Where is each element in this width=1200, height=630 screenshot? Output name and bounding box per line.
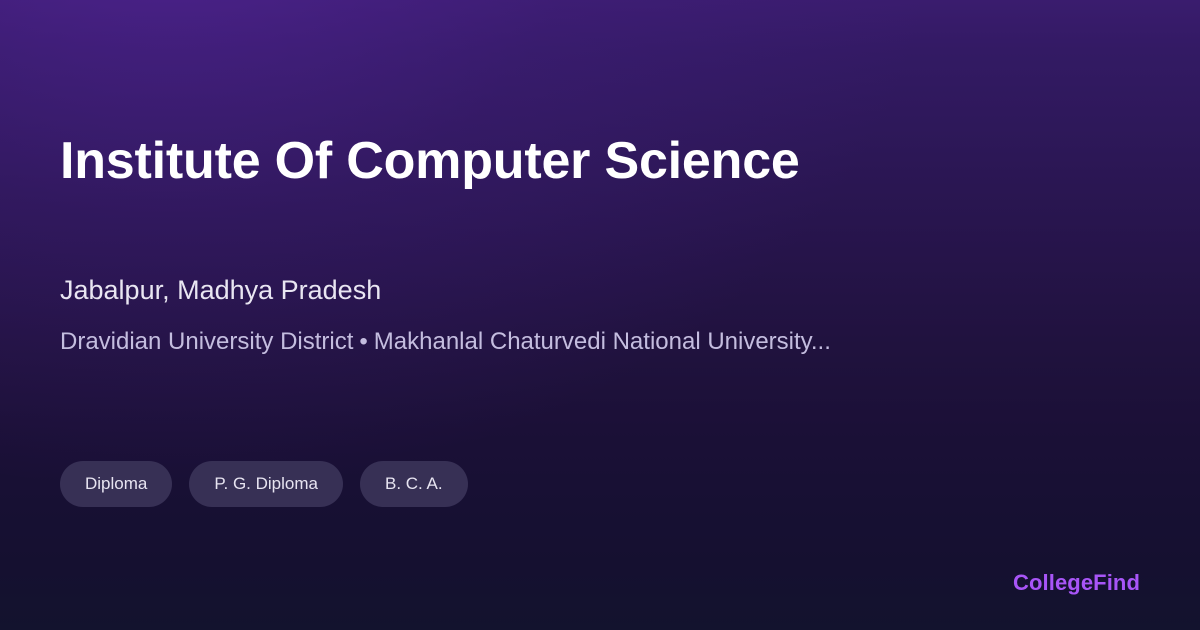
affiliation-text: Dravidian University District•Makhanlal … — [60, 326, 831, 358]
affiliation-district: Dravidian University District — [60, 328, 353, 355]
location-text: Jabalpur, Madhya Pradesh — [60, 272, 381, 308]
course-chip-diploma[interactable]: Diploma — [60, 461, 172, 507]
course-chip-list: Diploma P. G. Diploma B. C. A. — [60, 461, 468, 507]
card-content: Institute Of Computer Science Jabalpur, … — [60, 0, 1140, 630]
og-preview-card: Institute Of Computer Science Jabalpur, … — [0, 0, 1200, 630]
course-chip-pg-diploma[interactable]: P. G. Diploma — [189, 461, 343, 507]
course-chip-bca[interactable]: B. C. A. — [360, 461, 468, 507]
brand-logo: CollegeFind — [1013, 568, 1140, 598]
page-title: Institute Of Computer Science — [60, 127, 800, 195]
bullet-separator-icon: • — [353, 328, 373, 355]
affiliation-university: Makhanlal Chaturvedi National University… — [374, 328, 831, 355]
